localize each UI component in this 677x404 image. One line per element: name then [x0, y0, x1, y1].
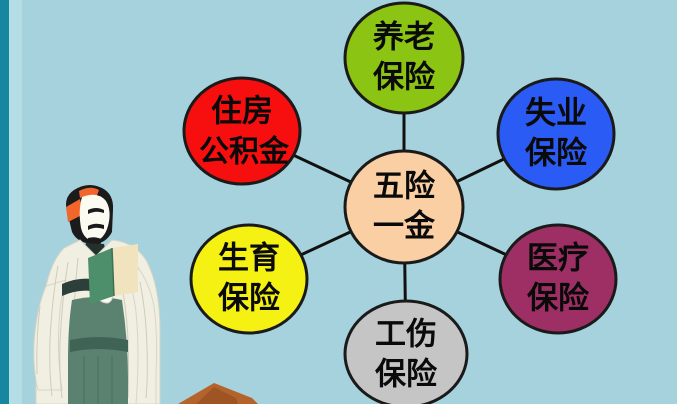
diagram-nodes: 养老 保险 失业 保险 医疗 保险 工伤 保险 — [184, 3, 616, 404]
node-medical-label-line1: 医疗 — [527, 241, 589, 277]
node-housingfund[interactable]: 住房 公积金 — [184, 78, 300, 184]
node-medical[interactable]: 医疗 保险 — [500, 225, 616, 333]
node-workinjury-label-line2: 保险 — [375, 357, 438, 393]
node-maternity[interactable]: 生育 保险 — [191, 225, 307, 333]
center-node-label-line1: 五险 — [373, 169, 436, 205]
node-housingfund-label-line2: 公积金 — [199, 135, 290, 170]
node-pension-label-line2: 保险 — [373, 60, 436, 96]
node-pension[interactable]: 养老 保险 — [345, 3, 463, 113]
center-node-label-line2: 一金 — [373, 209, 436, 245]
node-workinjury[interactable]: 工伤 保险 — [345, 301, 467, 404]
node-unemployment-label-line2: 保险 — [525, 136, 588, 172]
insurance-hub-diagram: 养老 保险 失业 保险 医疗 保险 工伤 保险 — [0, 0, 677, 404]
node-maternity-label-line1: 生育 — [218, 241, 280, 277]
node-housingfund-label-line1: 住房 — [211, 94, 273, 130]
node-unemployment-label-line1: 失业 — [525, 96, 587, 132]
node-unemployment[interactable]: 失业 保险 — [498, 79, 614, 189]
diagram-canvas: 养老 保险 失业 保险 医疗 保险 工伤 保险 — [0, 0, 677, 404]
node-workinjury-label-line1: 工伤 — [375, 317, 437, 353]
node-medical-label-line2: 保险 — [527, 281, 590, 317]
node-maternity-label-line2: 保险 — [218, 281, 281, 317]
node-center[interactable]: 五险 一金 — [345, 151, 463, 263]
node-pension-label-line1: 养老 — [373, 20, 435, 56]
